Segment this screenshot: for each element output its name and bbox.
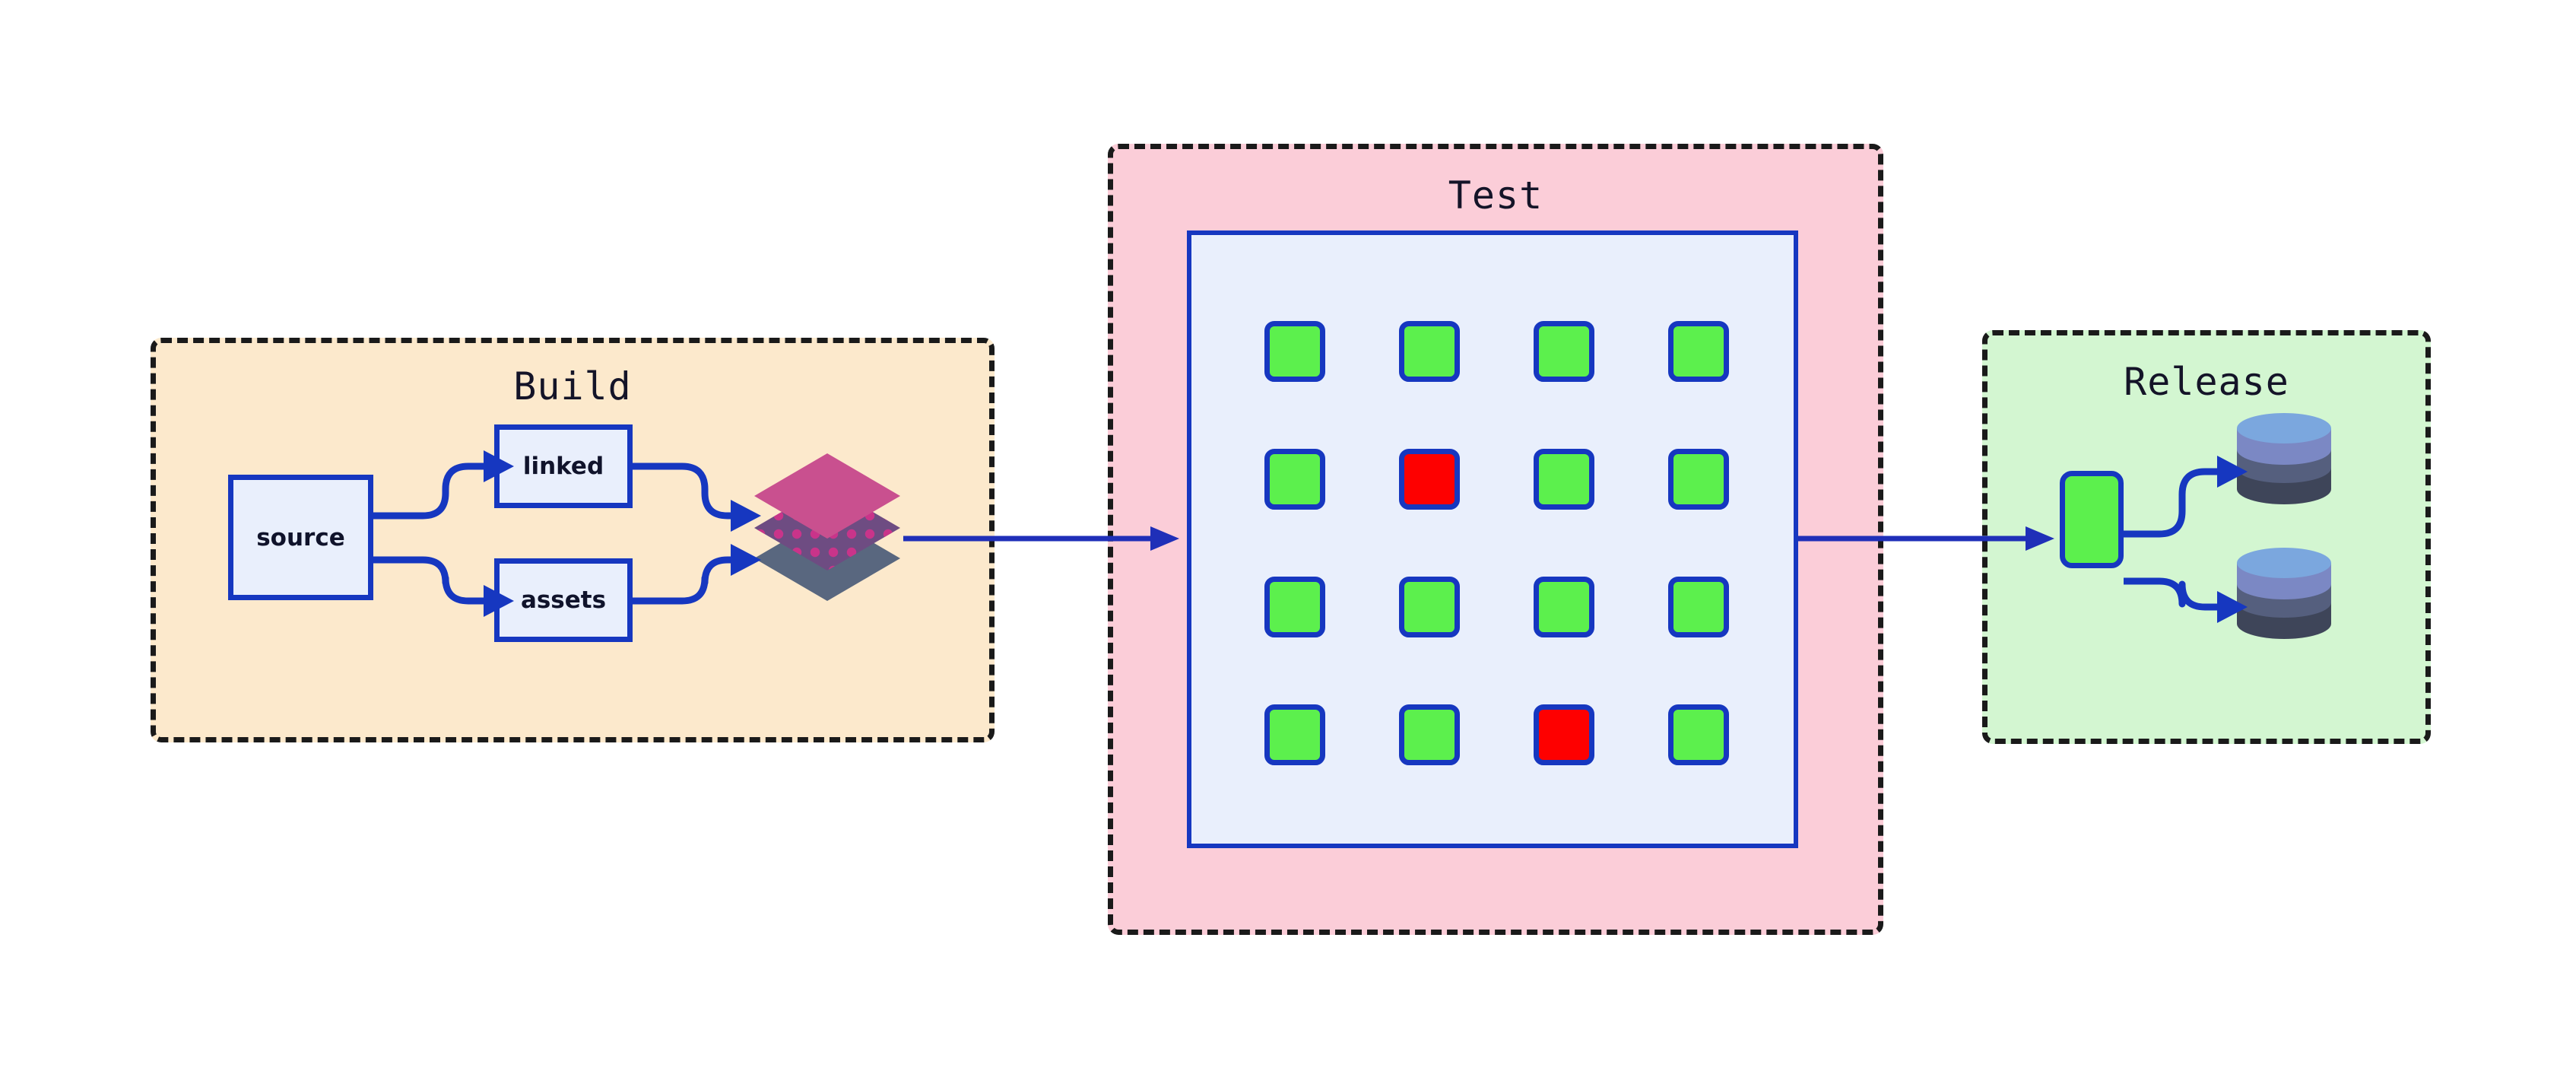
- test-cell[interactable]: [1399, 449, 1460, 510]
- test-cell[interactable]: [1668, 577, 1729, 637]
- layers-stack-icon[interactable]: [751, 452, 903, 601]
- stage-release-title: Release: [1988, 360, 2425, 404]
- test-cell[interactable]: [1534, 321, 1594, 382]
- test-cell[interactable]: [1668, 449, 1729, 510]
- database-cylinder-icon[interactable]: [2235, 412, 2333, 506]
- test-cell[interactable]: [1534, 577, 1594, 637]
- node-assets[interactable]: assets: [494, 558, 633, 642]
- stage-build-title: Build: [156, 364, 989, 408]
- test-cell[interactable]: [1668, 704, 1729, 765]
- test-cell[interactable]: [1399, 704, 1460, 765]
- node-linked[interactable]: linked: [494, 424, 633, 508]
- stage-test-title: Test: [1113, 173, 1878, 218]
- node-linked-label: linked: [523, 453, 604, 480]
- test-cell[interactable]: [1668, 321, 1729, 382]
- test-cell[interactable]: [1264, 577, 1325, 637]
- test-cell[interactable]: [1399, 577, 1460, 637]
- release-artifact-node[interactable]: [2060, 471, 2124, 568]
- test-cell[interactable]: [1534, 449, 1594, 510]
- stage-release[interactable]: Release: [1982, 330, 2431, 744]
- database-cylinder-icon[interactable]: [2235, 546, 2333, 640]
- diagram-canvas: Build source linked assets Test: [0, 0, 2576, 1068]
- test-cell[interactable]: [1264, 449, 1325, 510]
- node-assets-label: assets: [521, 586, 606, 614]
- test-cell[interactable]: [1534, 704, 1594, 765]
- test-cell[interactable]: [1264, 704, 1325, 765]
- node-source-label: source: [256, 524, 345, 551]
- test-results-grid: [1264, 321, 1730, 766]
- test-cell[interactable]: [1399, 321, 1460, 382]
- test-results-panel: [1187, 230, 1798, 848]
- node-source[interactable]: source: [228, 475, 373, 600]
- test-cell[interactable]: [1264, 321, 1325, 382]
